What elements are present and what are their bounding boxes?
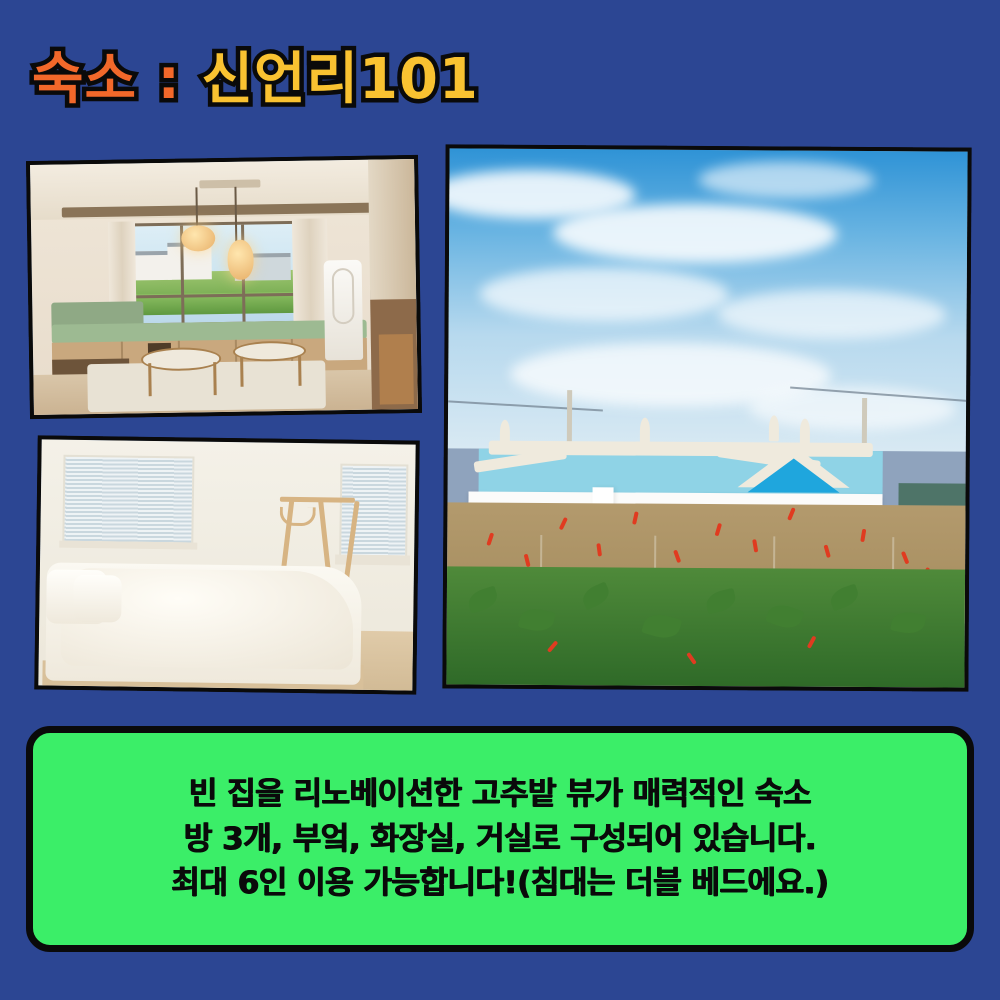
photo-living-room-image bbox=[30, 159, 418, 415]
title-name: 신언리101 bbox=[201, 47, 478, 112]
description-banner: 빈 집을 리노베이션한 고추밭 뷰가 매력적인 숙소 방 3개, 부엌, 화장실… bbox=[26, 726, 974, 952]
banner-line-3: 최대 6인 이용 가능합니다!(침대는 더블 베드에요.) bbox=[171, 867, 828, 900]
air-conditioner bbox=[323, 260, 363, 361]
banner-line-1: 빈 집을 리노베이션한 고추밭 뷰가 매력적인 숙소 bbox=[189, 778, 811, 811]
photo-bedroom bbox=[34, 435, 420, 694]
banner-line-2: 방 3개, 부엌, 화장실, 거실로 구성되어 있습니다. bbox=[184, 823, 816, 856]
pendant-lamp bbox=[181, 225, 215, 252]
page-title: 숙소 : 신언리101 bbox=[32, 52, 479, 108]
title-prefix: 숙소 : bbox=[32, 47, 201, 112]
photo-living-room bbox=[26, 155, 422, 419]
window-blind bbox=[63, 454, 195, 544]
photo-exterior bbox=[442, 144, 971, 691]
poster-canvas: 숙소 : 신언리101 bbox=[0, 0, 1000, 1000]
photo-bedroom-image bbox=[38, 439, 415, 690]
photo-exterior-image bbox=[446, 148, 967, 687]
pendant-lamp bbox=[227, 239, 254, 279]
